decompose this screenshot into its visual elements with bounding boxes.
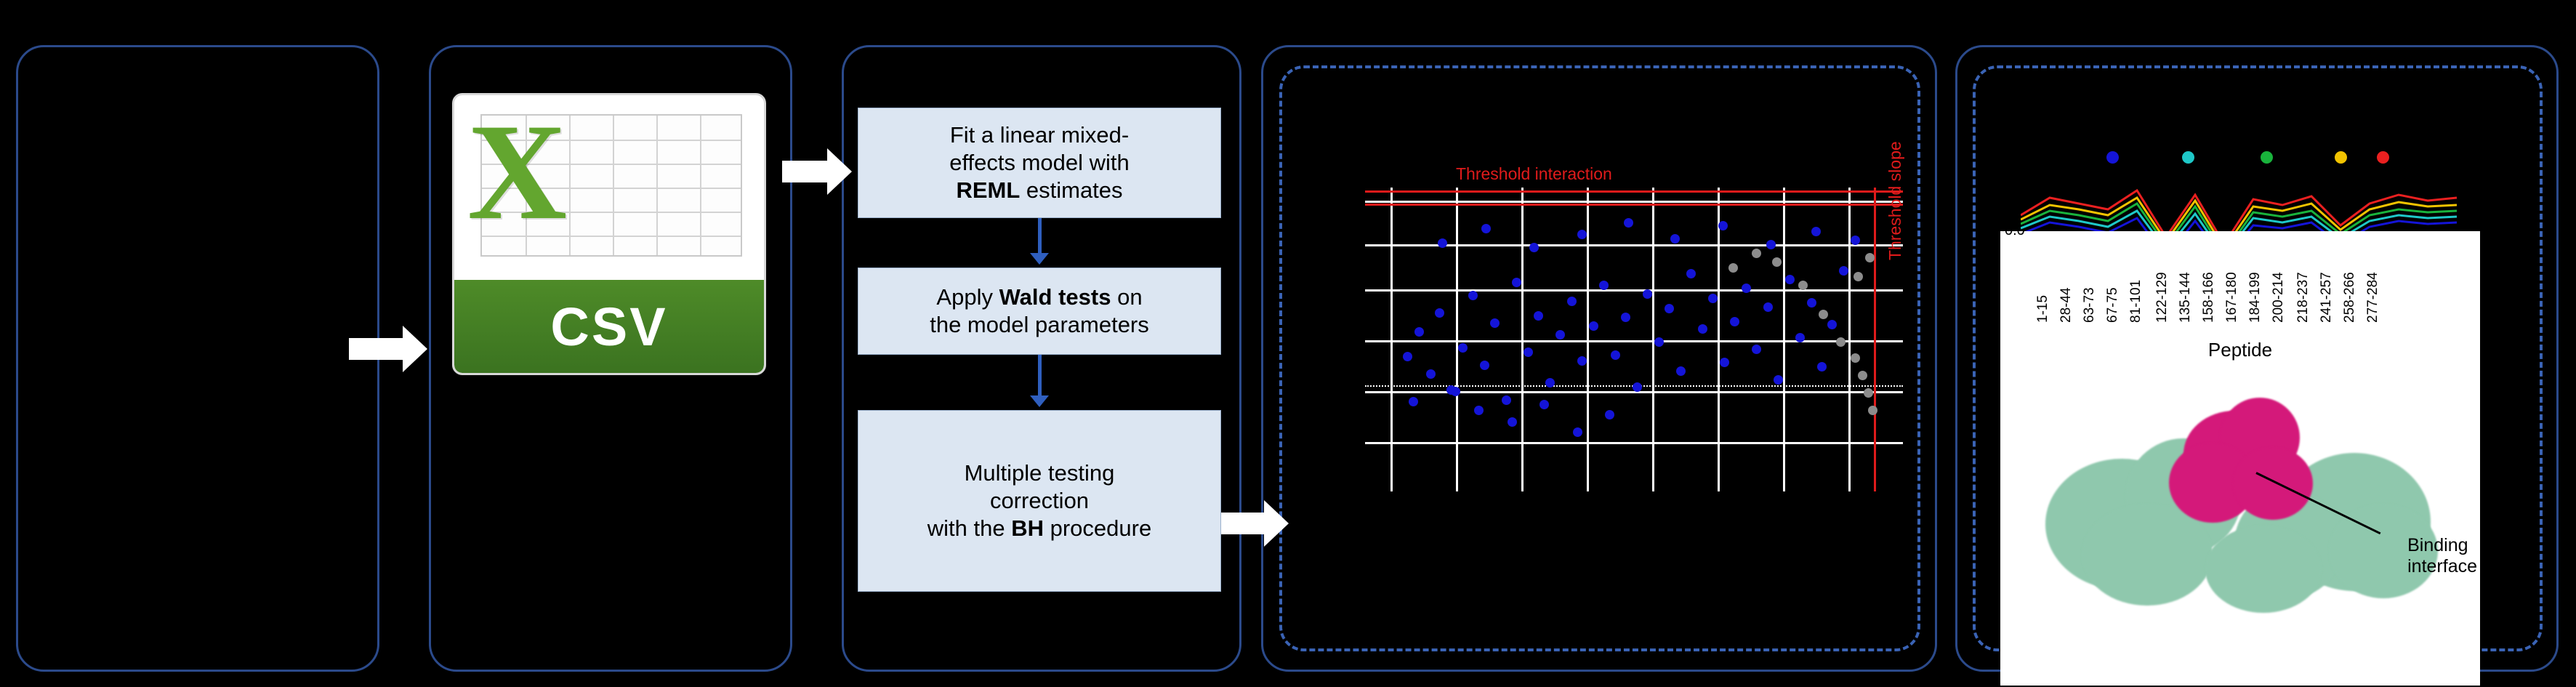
arrow-step-model-to-wald xyxy=(1025,218,1054,265)
binding-interface-annotation: Binding interface xyxy=(2407,535,2477,577)
csv-file-icon: X CSV xyxy=(452,93,766,375)
peptide-tick-0: 1-15 xyxy=(2035,295,2051,323)
peptide-tick-6: 135-144 xyxy=(2178,272,2194,323)
threshold-interaction-label: Threshold interaction xyxy=(1456,164,1612,184)
structure-figure-card: 0.0 1-15 28-44 63-73 67-75 81-101 122-12… xyxy=(2000,231,2480,686)
peptide-tick-4: 81-101 xyxy=(2128,280,2144,323)
legend-dot-red xyxy=(2377,151,2389,164)
peptide-tick-10: 200-214 xyxy=(2271,272,2287,323)
step-correction-line2: correction xyxy=(990,488,1089,513)
step-model-reml: REML xyxy=(956,177,1020,203)
step-model-line1: Fit a linear mixed- xyxy=(950,122,1129,148)
peptide-tick-14: 277-284 xyxy=(2365,272,2381,323)
threshold-slope-label: Threshold slope xyxy=(1885,141,1905,260)
peptide-tick-13: 258-266 xyxy=(2342,272,2358,323)
volcano-plot-canvas: Threshold slope xyxy=(1365,188,1903,491)
step-correction-box[interactable]: Multiple testing correction with the BH … xyxy=(858,410,1221,592)
peptide-tick-5: 122-129 xyxy=(2154,272,2170,323)
protein-structure xyxy=(2038,380,2442,620)
volcano-plot: Threshold interaction xyxy=(1365,153,1903,494)
csv-label: CSV xyxy=(550,296,667,358)
peptide-tick-1: 28-44 xyxy=(2058,287,2074,323)
legend-dot-cyan xyxy=(2182,151,2194,164)
peptide-tick-2: 63-73 xyxy=(2082,287,2098,323)
arrow-step-wald-to-correction xyxy=(1025,355,1054,407)
step-wald-line2: the model parameters xyxy=(930,312,1149,337)
arrow-steps-to-results xyxy=(1210,500,1289,547)
peptide-tick-9: 184-199 xyxy=(2247,272,2263,323)
peptide-tick-8: 167-180 xyxy=(2224,272,2240,323)
peptide-tick-11: 218-237 xyxy=(2295,272,2311,323)
x-axis-label: Peptide xyxy=(2000,339,2480,361)
peptide-tick-7: 158-166 xyxy=(2201,272,2217,323)
step-wald-box[interactable]: Apply Wald tests on the model parameters xyxy=(858,268,1221,355)
threshold-interaction-line-2 xyxy=(1365,204,1903,206)
legend-dot-green xyxy=(2261,151,2273,164)
threshold-slope-line xyxy=(1874,188,1876,491)
threshold-interaction-line xyxy=(1365,190,1903,193)
csv-label-band: CSV xyxy=(454,280,764,373)
step-model-box[interactable]: Fit a linear mixed- effects model with R… xyxy=(858,108,1221,218)
step-correction-bh: BH xyxy=(1011,515,1044,541)
peptide-tick-3: 67-75 xyxy=(2105,287,2121,323)
step-correction-line1: Multiple testing xyxy=(965,460,1115,486)
peptide-tick-labels: 1-15 28-44 63-73 67-75 81-101 122-129 13… xyxy=(2000,237,2480,324)
binding-interface-line2: interface xyxy=(2407,556,2477,577)
legend-dot-yellow xyxy=(2335,151,2347,164)
arrow-csv-to-steps xyxy=(782,148,852,195)
peptide-tick-12: 241-257 xyxy=(2319,272,2335,323)
binding-interface-line1: Binding xyxy=(2407,535,2477,556)
excel-x-letter: X xyxy=(467,107,567,238)
legend-dot-blue xyxy=(2106,151,2119,164)
step-model-line2: effects model with xyxy=(949,150,1130,175)
panel-input xyxy=(16,45,379,672)
step-wald-bold: Wald tests xyxy=(999,284,1111,310)
arrow-into-input xyxy=(349,326,427,372)
